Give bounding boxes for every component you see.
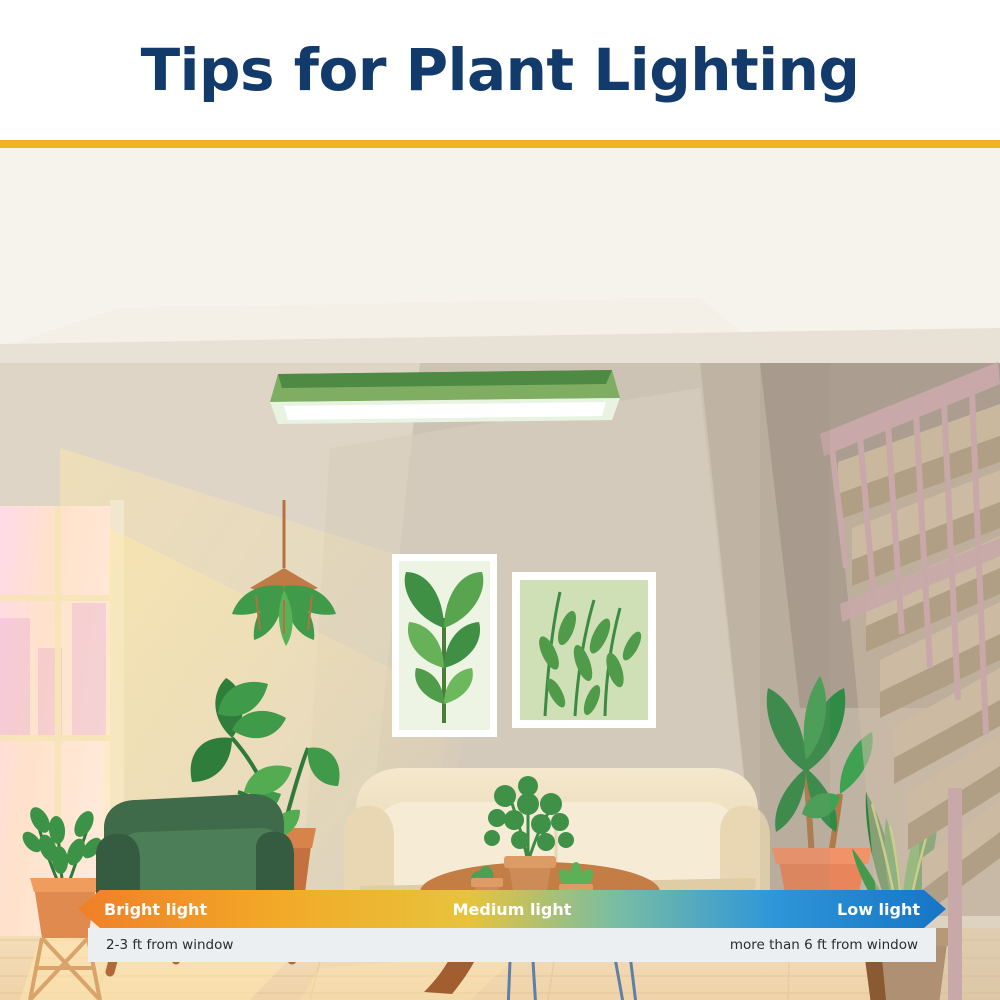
botanical-wall-art-left-icon [392, 554, 497, 737]
legend-bright-sublabel: 2-3 ft from window [106, 937, 233, 953]
light-legend: Bright light Medium light Low light 2-3 … [78, 890, 946, 968]
room-illustration [0, 148, 1000, 1000]
header: Tips for Plant Lighting [0, 0, 1000, 140]
legend-sublabels: 2-3 ft from window more than 6 ft from w… [88, 928, 936, 962]
legend-medium-label: Medium light [78, 900, 946, 919]
header-accent-rule [0, 140, 1000, 148]
legend-low-sublabel: more than 6 ft from window [730, 937, 918, 953]
infographic-canvas: Tips for Plant Lighting [0, 0, 1000, 1000]
botanical-wall-art-right-icon [512, 572, 656, 728]
ceiling-grow-light-icon [270, 370, 620, 424]
legend-labels: Bright light Medium light Low light [78, 890, 946, 928]
page-title: Tips for Plant Lighting [141, 36, 860, 104]
